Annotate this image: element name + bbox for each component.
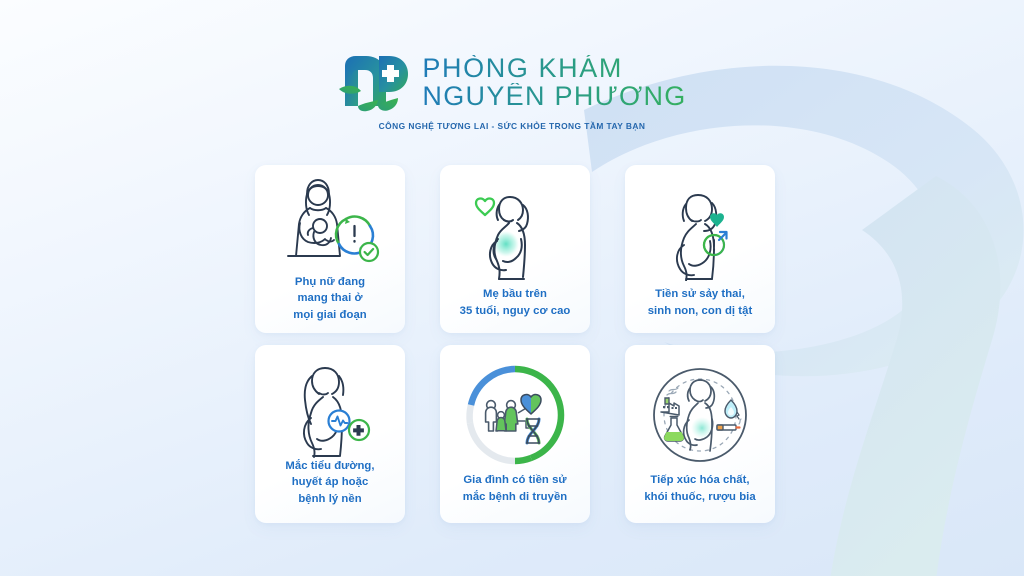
- brand-tagline: CÔNG NGHỆ TƯƠNG LAI - SỨC KHỎE TRONG TẦM…: [379, 121, 646, 131]
- pregnant-woman-heartbeat-medical-cross-icon: [263, 358, 397, 458]
- pregnant-woman-heart-alert-arrow-icon: [633, 178, 767, 286]
- pregnant-woman-with-heart-icon: [448, 178, 582, 286]
- family-heart-dna-ring-icon: [448, 358, 582, 472]
- card-chemical-smoke-alcohol-exposure[interactable]: Tiếp xúc hóa chất, khói thuốc, rượu bia: [625, 345, 775, 523]
- mother-holding-baby-with-cycle-alert-check-icon: [263, 178, 397, 274]
- card-label: Phụ nữ đang mang thai ở mọi giai đoạn: [293, 274, 366, 325]
- np-monogram-medical-cross-leaf-logo-icon: [337, 52, 411, 114]
- brand-name-line1: PHÒNG KHÁM: [422, 55, 686, 83]
- logo-wordmark: PHÒNG KHÁM NGUYÊN PHƯƠNG: [422, 55, 686, 110]
- brand-logo: PHÒNG KHÁM NGUYÊN PHƯƠNG CÔNG NGHỆ TƯƠNG…: [0, 52, 1024, 131]
- card-diabetes-hypertension-underlying-disease[interactable]: Mắc tiểu đường, huyết áp hoặc bệnh lý nề…: [255, 345, 405, 523]
- card-label: Gia đình có tiền sử mắc bệnh di truyền: [463, 472, 567, 511]
- card-label: Mẹ bầu trên 35 tuổi, nguy cơ cao: [460, 286, 571, 321]
- brand-name-line2: NGUYÊN PHƯƠNG: [422, 83, 686, 111]
- pregnant-woman-factory-flask-flame-cigarette-icon: [633, 358, 767, 472]
- criteria-card-grid: Phụ nữ đang mang thai ở mọi giai đoạn: [255, 165, 775, 523]
- card-pregnant-all-stages[interactable]: Phụ nữ đang mang thai ở mọi giai đoạn: [255, 165, 405, 333]
- card-family-history-genetic-disease[interactable]: Gia đình có tiền sử mắc bệnh di truyền: [440, 345, 590, 523]
- card-label: Tiền sử sảy thai, sinh non, con dị tật: [648, 286, 753, 321]
- card-label: Tiếp xúc hóa chất, khói thuốc, rượu bia: [644, 472, 755, 511]
- card-history-miscarriage-preterm-birth-defect[interactable]: Tiền sử sảy thai, sinh non, con dị tật: [625, 165, 775, 333]
- poster-canvas: PHÒNG KHÁM NGUYÊN PHƯƠNG CÔNG NGHỆ TƯƠNG…: [0, 0, 1024, 576]
- card-label: Mắc tiểu đường, huyết áp hoặc bệnh lý nề…: [285, 458, 374, 513]
- card-mother-over-35-high-risk[interactable]: Mẹ bầu trên 35 tuổi, nguy cơ cao: [440, 165, 590, 333]
- logo-row: PHÒNG KHÁM NGUYÊN PHƯƠNG: [337, 52, 686, 114]
